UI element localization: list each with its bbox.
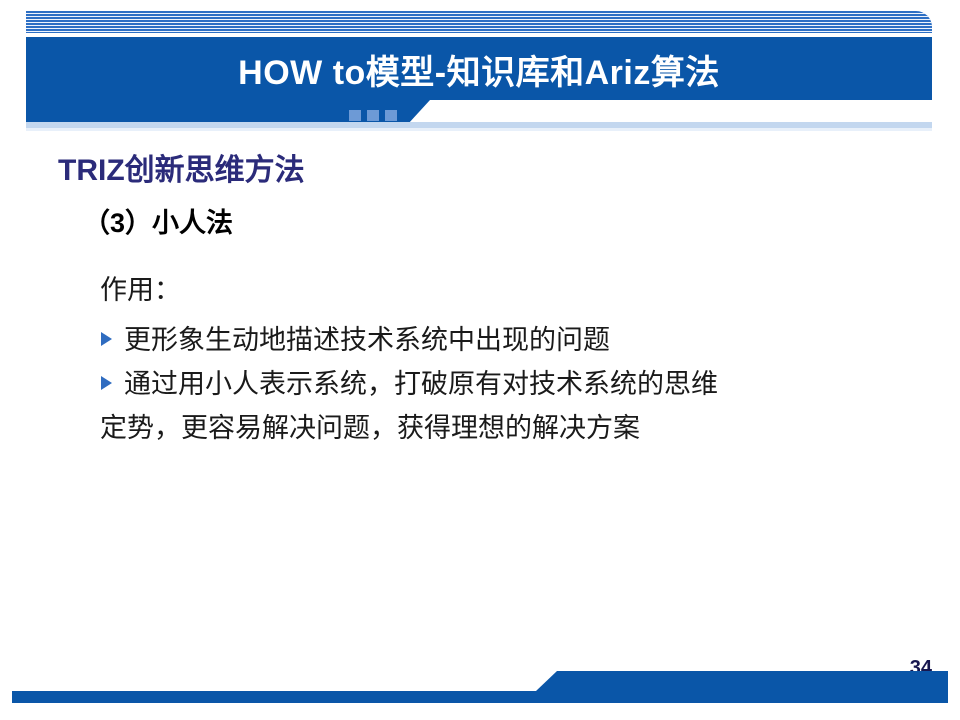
striped-ribbon-decoration <box>26 11 932 33</box>
three-squares-decoration-icon <box>349 110 397 122</box>
list-item: 通过用小人表示系统，打破原有对技术系统的思维 定势，更容易解决问题，获得理想的解… <box>100 362 900 450</box>
square-icon-2 <box>367 110 379 121</box>
header-diagonal-notch <box>408 100 932 124</box>
list-item-text-continued: 定势，更容易解决问题，获得理想的解决方案 <box>100 406 900 450</box>
sub-heading: （3）小人法 <box>83 201 233 240</box>
content-body: 作用： 更形象生动地描述技术系统中出现的问题 通过用小人表示系统，打破原有对技术… <box>100 268 900 450</box>
section-title: TRIZ创新思维方法 <box>58 145 305 189</box>
triangle-bullet-icon <box>101 332 112 346</box>
slide-header: HOW to模型-知识库和Ariz算法 <box>0 0 960 132</box>
square-icon-3 <box>385 110 397 121</box>
list-item: 更形象生动地描述技术系统中出现的问题 <box>100 318 900 362</box>
square-icon-1 <box>349 110 361 121</box>
content-lead-label: 作用： <box>100 268 900 312</box>
page-title: HOW to模型-知识库和Ariz算法 <box>26 37 932 109</box>
slide-canvas: HOW to模型-知识库和Ariz算法 TRIZ创新思维方法 （3）小人法 作用… <box>0 0 960 720</box>
list-item-text: 更形象生动地描述技术系统中出现的问题 <box>124 325 610 355</box>
triangle-bullet-icon <box>101 376 112 390</box>
footer-bar-left <box>12 691 557 703</box>
footer-bar-right <box>536 671 948 703</box>
header-underline-soft <box>26 128 932 131</box>
list-item-text: 通过用小人表示系统，打破原有对技术系统的思维 <box>124 369 718 399</box>
